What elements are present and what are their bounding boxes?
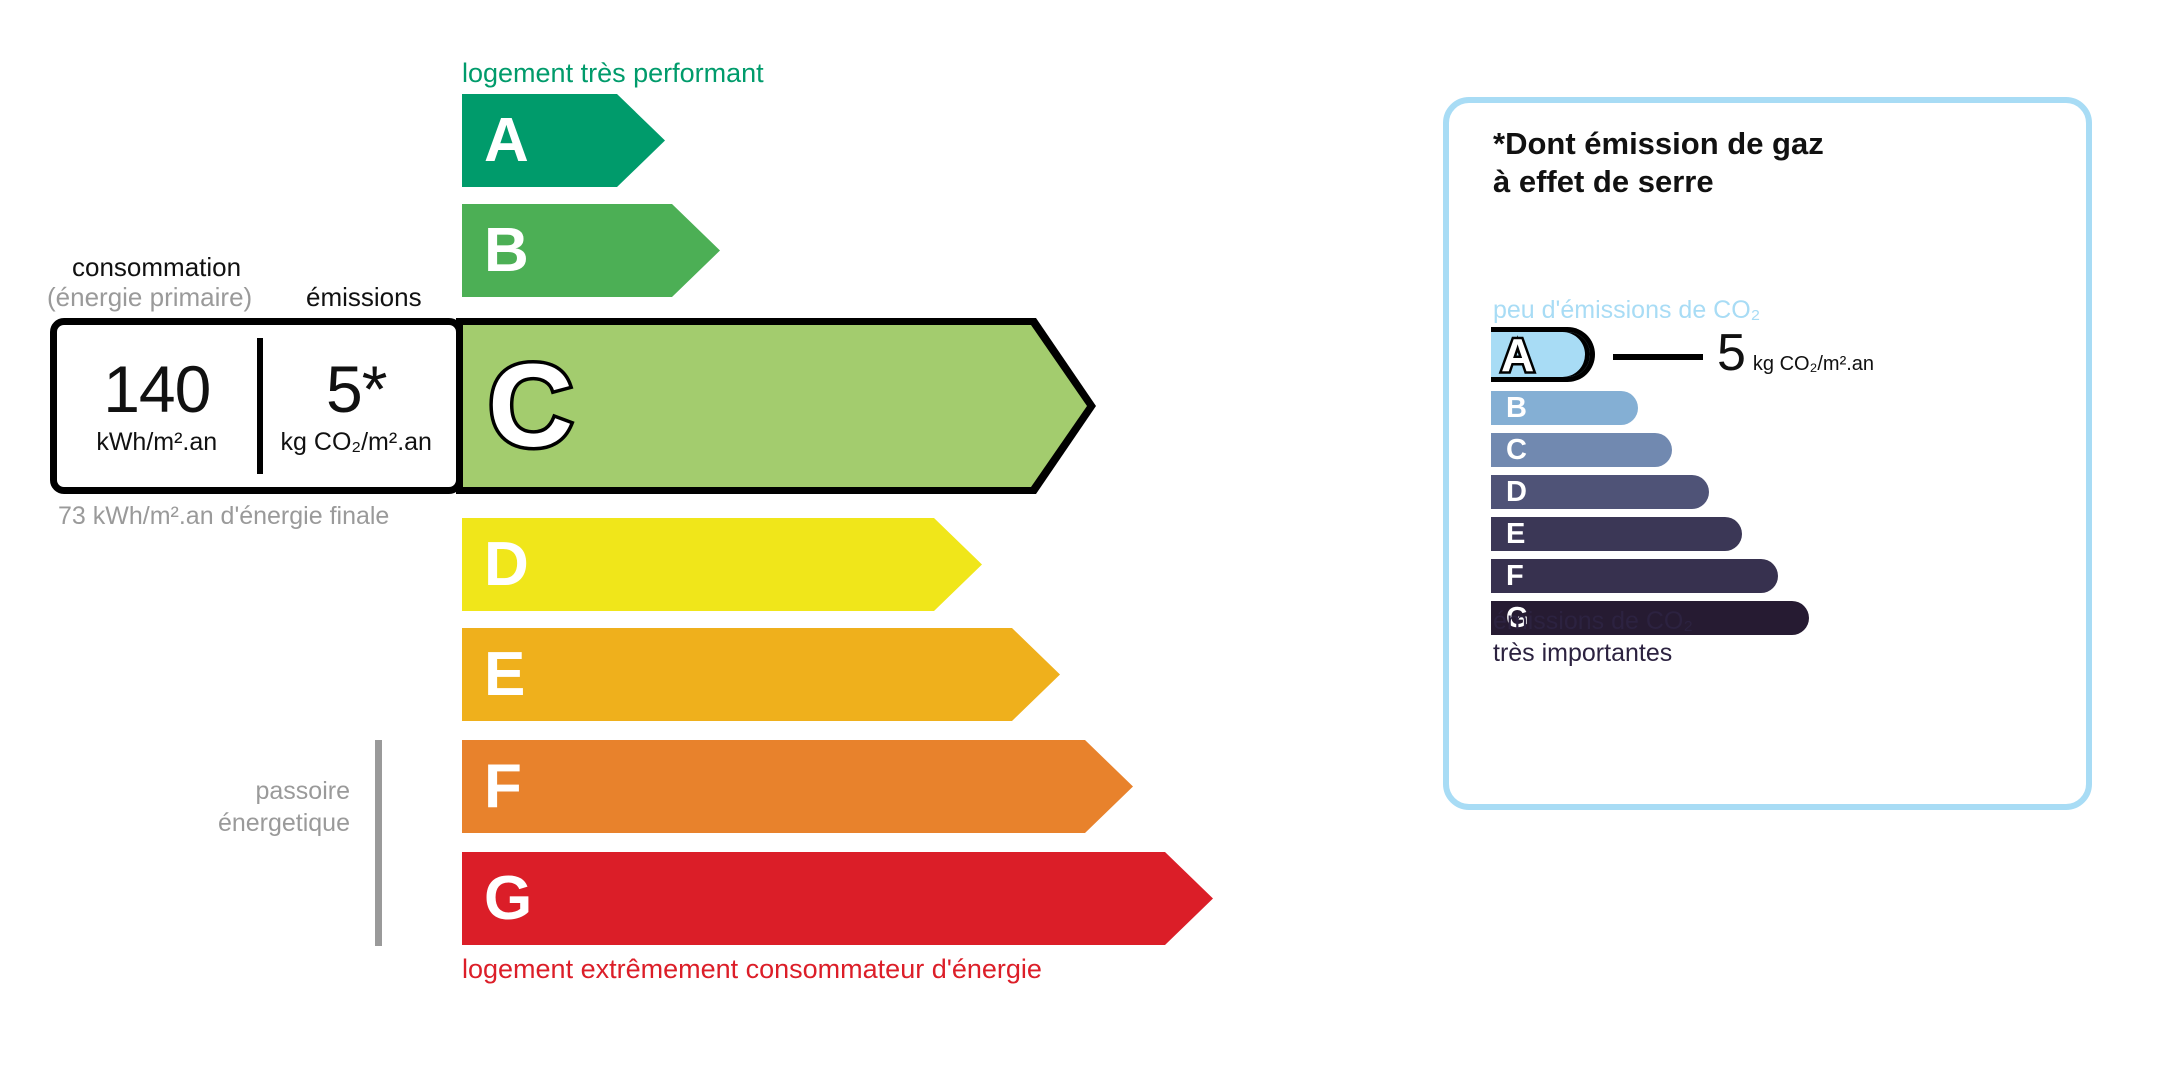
- co2-panel-title: *Dont émission de gaz à effet de serre: [1493, 125, 1824, 201]
- emissions-readout: 5* kg CO₂/m².an: [257, 325, 457, 487]
- arrow-shape: B: [462, 204, 720, 297]
- consumption-readout: 140 kWh/m².an: [57, 325, 257, 487]
- emissions-header: émissions: [306, 282, 422, 313]
- energy-class-letter: A: [484, 110, 529, 172]
- co2-scale-best-note: peu d'émissions de CO₂: [1493, 296, 1760, 325]
- co2-scale-worst-note: émissions de CO₂ très importantes: [1493, 605, 1693, 669]
- energy-class-bar-f[interactable]: F: [462, 740, 1133, 833]
- co2-class-letter: E: [1506, 520, 1525, 549]
- arrow-shape: G: [462, 852, 1213, 945]
- arrow-shape: A: [462, 94, 665, 187]
- energy-class-bar-e[interactable]: E: [462, 628, 1060, 721]
- co2-class-bar-d[interactable]: D: [1491, 475, 1709, 509]
- co2-value: 5: [1717, 327, 1746, 379]
- arrow-shape: E: [462, 628, 1060, 721]
- value-readout-box: 140 kWh/m².an 5* kg CO₂/m².an: [50, 318, 463, 494]
- consumption-value: 140: [103, 356, 210, 422]
- co2-unit: kg CO₂/m².an: [1753, 353, 1874, 376]
- energy-class-bar-d[interactable]: D: [462, 518, 982, 611]
- energy-sieve-note: passoire énergetique: [170, 775, 350, 839]
- co2-leader-line: [1613, 354, 1703, 360]
- co2-class-letter: D: [1506, 478, 1527, 507]
- energy-class-bar-a[interactable]: A: [462, 94, 665, 187]
- energy-performance-label: logement très performant ABDEFG C consom…: [0, 0, 1330, 1079]
- dpe-diagram: logement très performant ABDEFG C consom…: [0, 0, 2169, 1079]
- consumption-header-line2: (énergie primaire): [47, 282, 252, 313]
- co2-class-bar-f[interactable]: F: [1491, 559, 1778, 593]
- energy-sieve-bracket: [375, 740, 382, 946]
- emissions-value: 5*: [326, 356, 386, 422]
- co2-class-letter: B: [1506, 394, 1527, 423]
- energy-class-letter: E: [484, 644, 525, 706]
- consumption-unit: kWh/m².an: [96, 428, 217, 457]
- co2-class-bar-b[interactable]: B: [1491, 391, 1638, 425]
- energy-class-letter: G: [484, 868, 532, 930]
- selected-class-letter: C: [488, 347, 573, 465]
- co2-class-badge-selected[interactable]: A: [1491, 327, 1595, 382]
- greenhouse-gas-panel: *Dont émission de gaz à effet de serre p…: [1443, 97, 2092, 810]
- final-energy-note: 73 kWh/m².an d'énergie finale: [58, 500, 389, 532]
- consumption-header-line1: consommation: [72, 252, 241, 283]
- co2-class-bar-c[interactable]: C: [1491, 433, 1672, 467]
- co2-class-letter: F: [1506, 562, 1524, 591]
- energy-class-letter: F: [484, 756, 522, 818]
- arrow-shape: D: [462, 518, 982, 611]
- emissions-unit: kg CO₂/m².an: [281, 428, 432, 457]
- energy-class-letter: D: [484, 534, 529, 596]
- energy-class-letter: B: [484, 220, 529, 282]
- co2-class-bar-e[interactable]: E: [1491, 517, 1742, 551]
- arrow-shape: F: [462, 740, 1133, 833]
- energy-scale-worst-note: logement extrêmement consommateur d'éner…: [462, 954, 1042, 985]
- energy-class-bar-g[interactable]: G: [462, 852, 1213, 945]
- co2-selected-class-letter: A: [1501, 332, 1534, 378]
- energy-class-bar-selected[interactable]: C: [456, 318, 1096, 494]
- co2-value-readout: 5 kg CO₂/m².an: [1717, 327, 1874, 379]
- energy-scale-best-note: logement très performant: [462, 58, 764, 89]
- energy-class-bar-b[interactable]: B: [462, 204, 720, 297]
- co2-class-letter: C: [1506, 436, 1527, 465]
